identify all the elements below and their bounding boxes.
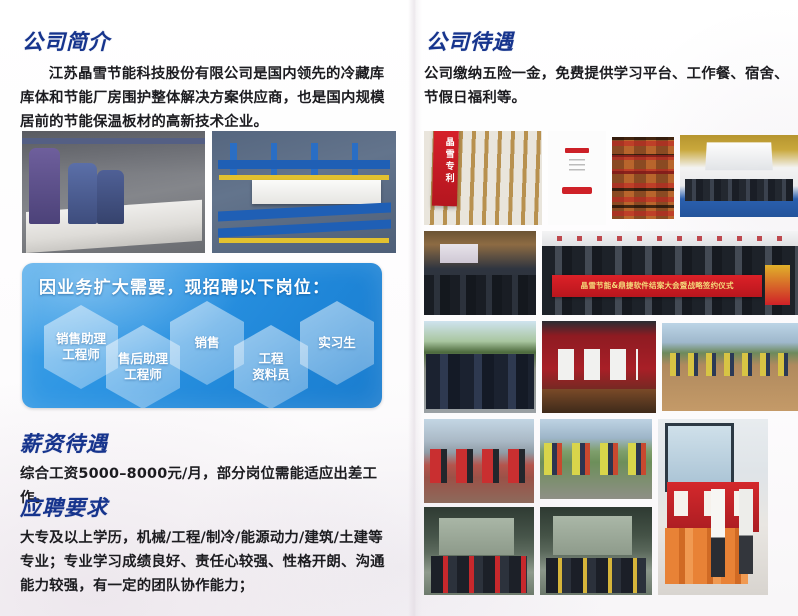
photo-workers-inspecting-insulation-panel: [22, 131, 205, 253]
photo-team-outdoor-activity-green: [540, 419, 652, 499]
company-intro-paragraph: 江苏晶雪节能科技股份有限公司是国内领先的冷藏库库体和节能厂房围护整体解决方案供应…: [20, 62, 392, 134]
job-label-line1: 实习生: [318, 335, 356, 351]
photo-row-1: [424, 131, 798, 225]
photo-outdoor-assembly-field: [662, 323, 798, 411]
photo-strategic-signing-ceremony: 晶雪节能&鼎捷软件结案大会暨战略签约仪式: [542, 231, 798, 315]
requirements-heading: 应聘要求: [20, 492, 108, 522]
salary-heading: 薪资待遇: [20, 428, 108, 458]
photo-award-ceremony-group-photo: [424, 507, 534, 595]
photo-trade-show-exhibition-booth: [680, 135, 798, 217]
job-openings-title: 因业务扩大需要，现招聘以下岗位：: [39, 273, 330, 298]
brochure-page: 公司简介 江苏晶雪节能科技股份有限公司是国内领先的冷藏库库体和节能厂房围护整体解…: [0, 0, 798, 616]
photo-row-3: [424, 321, 798, 413]
photo-conference-hall-meeting: [424, 231, 536, 315]
photo-executive-site-visit: [424, 321, 536, 413]
left-column: 公司简介 江苏晶雪节能科技股份有限公司是国内领先的冷藏库库体和节能厂房围护整体解…: [0, 0, 408, 616]
job-label-line1: 售后助理: [118, 351, 168, 367]
job-label-line1: 工程: [258, 351, 283, 367]
photo-certificate-document: [548, 131, 606, 225]
photo-award-ceremony-certificates: [540, 507, 652, 595]
factory-photo-pair: [22, 131, 396, 253]
signing-ceremony-banner-text: 晶雪节能&鼎捷软件结案大会暨战略签约仪式: [552, 275, 762, 297]
photo-row-4: [424, 419, 798, 505]
photo-panel-production-line: [212, 131, 396, 253]
job-hexagon-intern[interactable]: 实习生: [300, 301, 374, 385]
job-label-line2: 资料员: [252, 367, 290, 383]
job-label-line1: 销售: [194, 335, 219, 351]
company-intro-heading: 公司简介: [22, 26, 110, 56]
job-hexagon-engineering-document-clerk[interactable]: 工程 资料员: [234, 325, 308, 408]
company-welfare-heading: 公司待遇: [426, 26, 514, 56]
photo-team-outdoor-activity-red: [424, 419, 534, 503]
requirements-paragraph: 大专及以上学历，机械/工程/制冷/能源动力/建筑/土建等专业；专业学习成绩良好、…: [20, 526, 392, 598]
photo-red-exhibition-booth: [542, 321, 656, 413]
photo-patent-wall-display: [424, 131, 542, 225]
job-label-line2: 工程师: [124, 367, 162, 383]
photo-product-display-shelves: [612, 137, 674, 219]
job-openings-panel: 因业务扩大需要，现招聘以下岗位： 销售助理 工程师 售后助理 工程师 销售 工程…: [22, 263, 382, 408]
company-photo-grid: 晶雪节能&鼎捷软件结案大会暨战略签约仪式: [424, 131, 798, 605]
photo-row-5: [424, 507, 798, 597]
job-label-line1: 销售助理: [56, 331, 106, 347]
right-column: 公司待遇 公司缴纳五险一金，免费提供学习平台、工作餐、宿舍、节假日福利等。 晶雪…: [418, 0, 798, 616]
company-welfare-paragraph: 公司缴纳五险一金，免费提供学习平台、工作餐、宿舍、节假日福利等。: [424, 62, 792, 110]
photo-row-2: 晶雪节能&鼎捷软件结案大会暨战略签约仪式: [424, 231, 798, 315]
job-hexagon-sales[interactable]: 销售: [170, 301, 244, 385]
job-label-line2: 工程师: [62, 347, 100, 363]
